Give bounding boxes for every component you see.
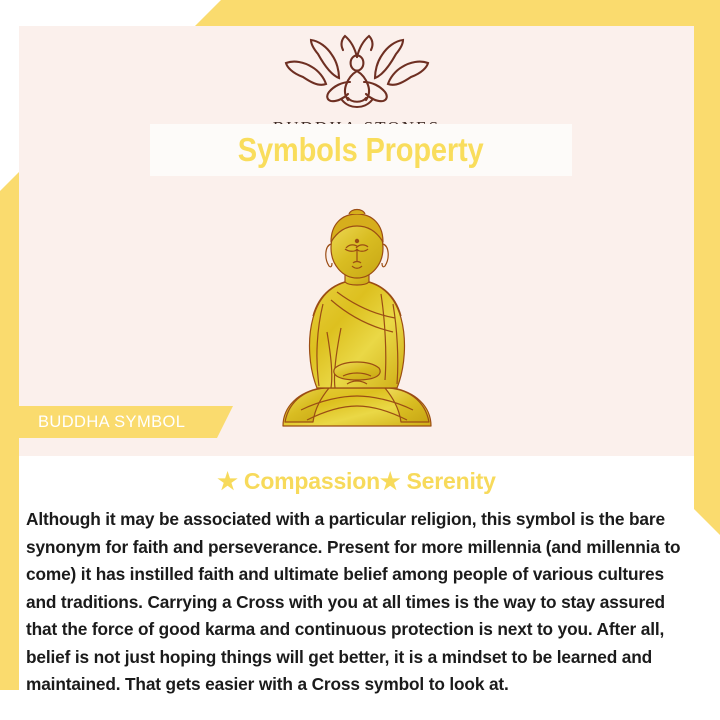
page-title: Symbols Property bbox=[238, 131, 484, 169]
content-paragraph: Although it may be associated with a par… bbox=[26, 506, 687, 699]
content-panel: ★ Compassion★ Serenity Although it may b… bbox=[19, 456, 694, 720]
brand-logo: BUDDHA STONES bbox=[19, 34, 694, 138]
lotus-meditation-icon bbox=[282, 34, 432, 112]
ribbon-label: BUDDHA SYMBOL bbox=[19, 413, 185, 432]
decor-right-bar bbox=[694, 0, 720, 535]
section-ribbon: BUDDHA SYMBOL bbox=[19, 406, 233, 438]
buddha-illustration bbox=[19, 208, 694, 434]
title-band: Symbols Property bbox=[150, 124, 572, 176]
infographic-page: BUDDHA STONES bbox=[0, 0, 720, 720]
content-headline: ★ Compassion★ Serenity bbox=[19, 456, 694, 495]
decor-left-bar bbox=[0, 172, 19, 690]
decor-top-bar bbox=[195, 0, 720, 26]
hero-panel: BUDDHA STONES bbox=[19, 26, 694, 456]
